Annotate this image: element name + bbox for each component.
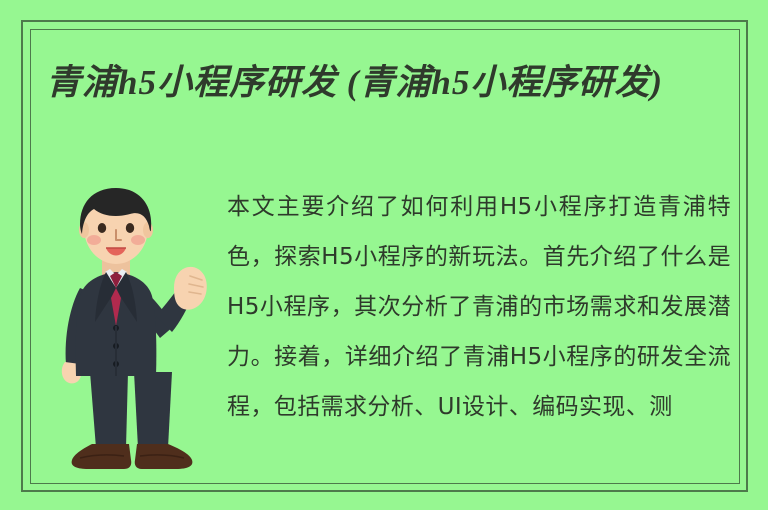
page-title: 青浦h5小程序研发 (青浦h5小程序研发) — [46, 60, 726, 106]
businessman-illustration — [50, 176, 220, 476]
suit-jacket-shape — [76, 269, 157, 376]
article-body: 本文主要介绍了如何利用H5小程序打造青浦特色，探索H5小程序的新玩法。首先介绍了… — [227, 182, 731, 432]
legs-shape — [90, 372, 172, 448]
poster-canvas: 青浦h5小程序研发 (青浦h5小程序研发) — [0, 0, 768, 510]
head-shape — [79, 188, 153, 264]
